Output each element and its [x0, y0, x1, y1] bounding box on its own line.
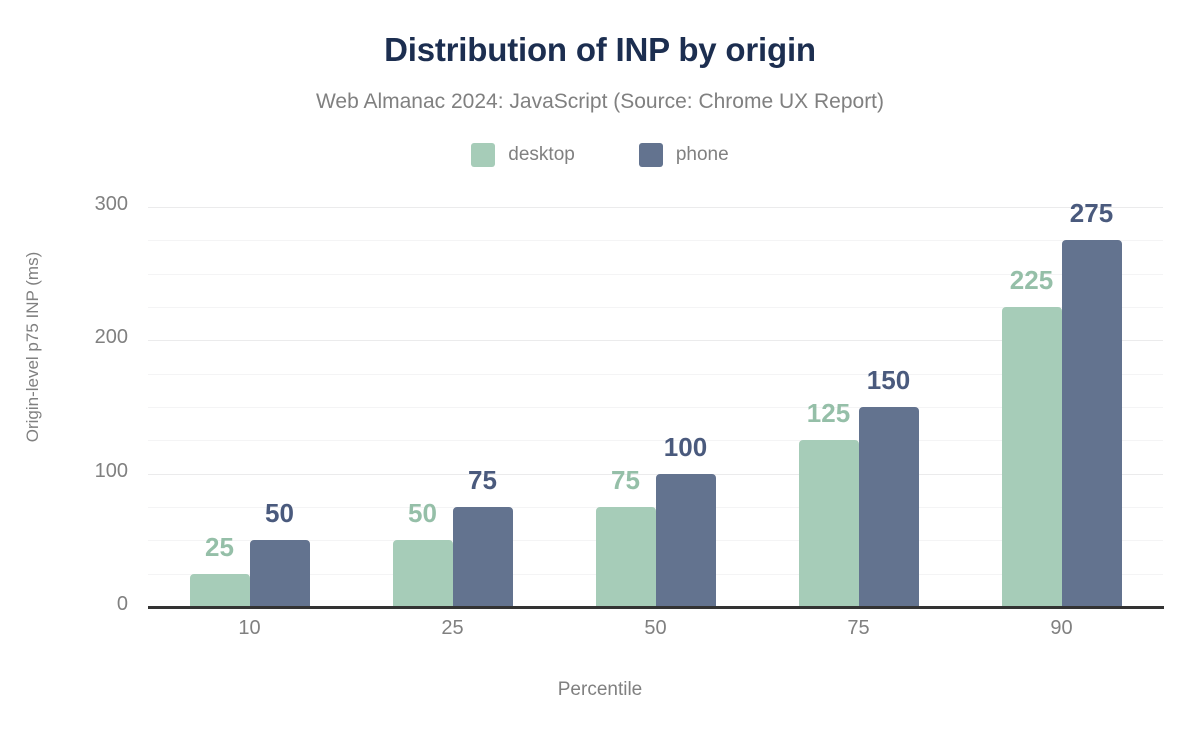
y-axis-tick-label: 0 [18, 593, 128, 616]
bar-value-label: 100 [626, 432, 746, 463]
x-axis-tick-label: 50 [596, 617, 716, 640]
bar-desktop-50[interactable] [596, 507, 656, 607]
x-axis-tick-label: 25 [393, 617, 513, 640]
bar-phone-90[interactable] [1062, 240, 1122, 607]
gridline [148, 207, 1163, 208]
x-axis-title: Percentile [0, 679, 1200, 701]
chart-legend: desktopphone [0, 143, 1200, 167]
x-axis-tick-label: 75 [799, 617, 919, 640]
bar-chart: Distribution of INP by origin Web Almana… [0, 0, 1200, 742]
legend-swatch-desktop [471, 143, 495, 167]
chart-subtitle: Web Almanac 2024: JavaScript (Source: Ch… [0, 90, 1200, 114]
legend-swatch-phone [639, 143, 663, 167]
x-axis-line [148, 606, 1164, 609]
bar-phone-25[interactable] [453, 507, 513, 607]
bar-desktop-75[interactable] [799, 440, 859, 607]
bar-value-label: 150 [829, 365, 949, 396]
bar-value-label: 75 [423, 465, 543, 496]
y-axis-title: Origin-level p75 INP (ms) [23, 137, 43, 557]
bar-phone-75[interactable] [859, 407, 919, 607]
legend-label: desktop [508, 144, 575, 166]
bar-desktop-10[interactable] [190, 574, 250, 607]
x-axis-tick-label: 10 [190, 617, 310, 640]
gridline [148, 240, 1163, 241]
bar-value-label: 275 [1032, 198, 1152, 229]
bar-phone-10[interactable] [250, 540, 310, 607]
legend-item-desktop[interactable]: desktop [471, 143, 575, 167]
legend-item-phone[interactable]: phone [639, 143, 729, 167]
bar-value-label: 50 [220, 498, 340, 529]
bar-phone-50[interactable] [656, 474, 716, 607]
x-axis-tick-label: 90 [1002, 617, 1122, 640]
plot-area: 2550507575100125150225275 [148, 192, 1163, 607]
chart-title: Distribution of INP by origin [0, 31, 1200, 69]
legend-label: phone [676, 144, 729, 166]
bar-desktop-25[interactable] [393, 540, 453, 607]
bar-desktop-90[interactable] [1002, 307, 1062, 607]
